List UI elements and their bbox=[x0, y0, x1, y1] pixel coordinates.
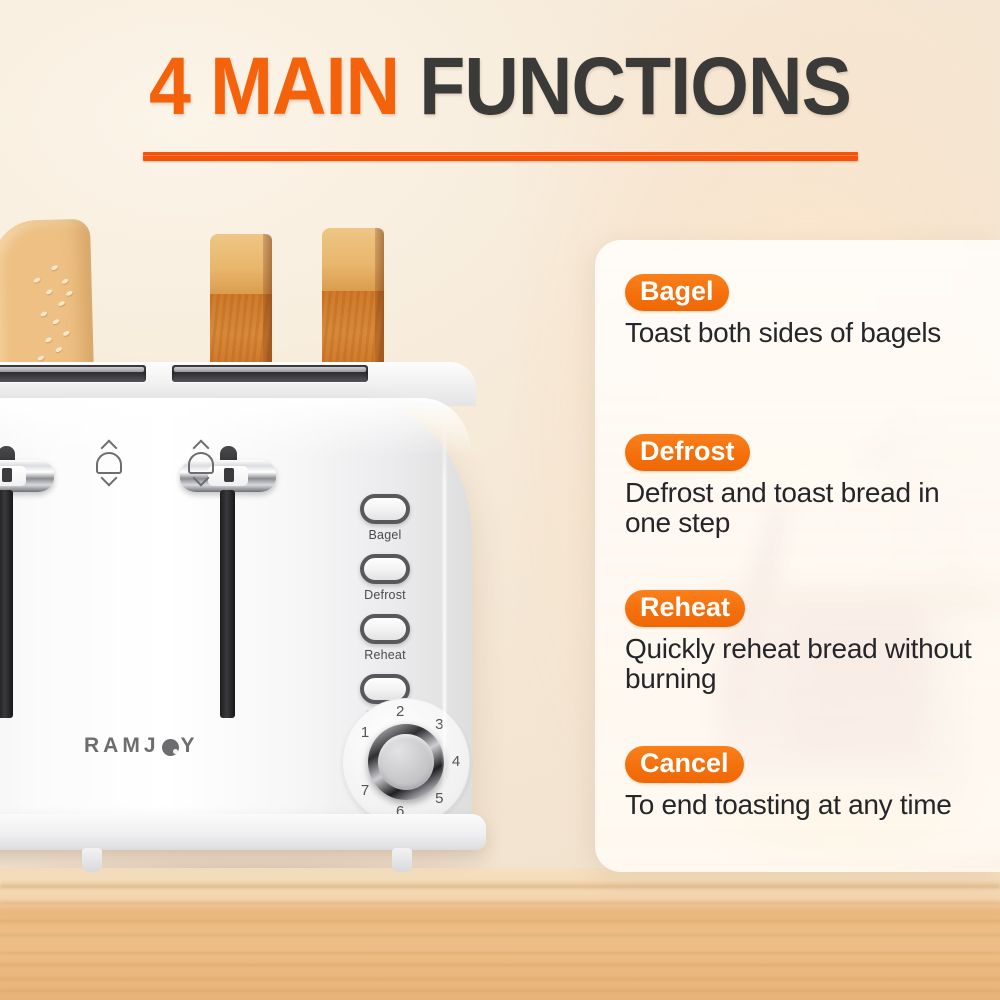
feature-desc-reheat: Quickly reheat bread without burning bbox=[625, 634, 975, 694]
toaster-button-reheat-label: Reheat bbox=[354, 648, 416, 662]
brand-logo: RAMJY bbox=[84, 734, 199, 758]
dial-number-4: 4 bbox=[448, 753, 464, 770]
wood-grain-line bbox=[0, 990, 1000, 992]
toaster-slot-left bbox=[0, 365, 146, 382]
wood-grain-line bbox=[0, 920, 1000, 922]
page-title-highlight: 4 MAIN bbox=[149, 41, 419, 132]
bagel-sesame-seed bbox=[62, 330, 70, 337]
lever-rod-right bbox=[220, 490, 235, 718]
feature-badge-defrost: Defrost bbox=[625, 434, 750, 471]
wood-grain-line bbox=[0, 934, 1000, 936]
lever-rod-left bbox=[0, 490, 13, 718]
lever-pin-right bbox=[224, 468, 234, 482]
feature-badge-reheat: Reheat bbox=[625, 590, 745, 627]
dial-number-3: 3 bbox=[431, 716, 447, 733]
feature-desc-bagel: Toast both sides of bagels bbox=[625, 318, 975, 348]
brand-logo-o-icon bbox=[162, 739, 179, 756]
lever-pin-left bbox=[2, 468, 12, 482]
wood-grain-line bbox=[0, 978, 1000, 980]
toaster-slot-right bbox=[172, 365, 368, 382]
counter-edge-line bbox=[0, 884, 1000, 887]
infographic-stage: 4 MAIN FUNCTIONS bbox=[0, 0, 1000, 1000]
dial-number-2: 2 bbox=[392, 703, 408, 720]
bagel-sesame-seed bbox=[37, 355, 45, 362]
bagel-sesame-seed bbox=[44, 337, 52, 344]
wooden-counter bbox=[0, 868, 1000, 1000]
page-title: 4 MAIN FUNCTIONS bbox=[40, 46, 960, 128]
bagel-sesame-seed bbox=[40, 311, 48, 318]
bagel-sesame-seed bbox=[45, 288, 53, 295]
bagel-sesame-seed bbox=[58, 300, 66, 307]
wood-grain-line bbox=[0, 902, 1000, 904]
toaster-button-bagel[interactable] bbox=[360, 494, 410, 524]
feature-badge-bagel: Bagel bbox=[625, 274, 729, 311]
wood-grain-line bbox=[0, 964, 1000, 966]
feature-badge-cancel: Cancel bbox=[625, 746, 744, 783]
bread-lift-icon-right bbox=[184, 440, 218, 486]
page-title-rest: FUNCTIONS bbox=[419, 41, 851, 132]
toaster-foot-right bbox=[392, 848, 412, 872]
bagel-sesame-seed bbox=[55, 346, 63, 353]
carriage-lever-left[interactable] bbox=[0, 446, 54, 492]
brand-logo-text: RAMJ bbox=[84, 734, 160, 758]
toaster-body: Bagel Defrost Reheat Cancel 1234567 RAM bbox=[0, 362, 584, 872]
toaster-button-reheat[interactable] bbox=[360, 614, 410, 644]
bagel-sesame-seed bbox=[61, 278, 69, 285]
feature-desc-cancel: To end toasting at any time bbox=[625, 790, 975, 820]
bagel-sesame-seed bbox=[33, 277, 41, 284]
brand-logo-text-end: Y bbox=[181, 734, 199, 758]
toaster-base-plinth bbox=[0, 814, 486, 850]
toaster-foot-left bbox=[82, 848, 102, 872]
toaster-cabinet: Bagel Defrost Reheat Cancel 1234567 RAM bbox=[0, 398, 472, 828]
features-panel: Bagel Toast both sides of bagels Defrost… bbox=[595, 240, 1000, 872]
dial-number-7: 7 bbox=[357, 782, 373, 799]
toaster-button-defrost-label: Defrost bbox=[354, 588, 416, 602]
feature-item-bagel: Bagel Toast both sides of bagels bbox=[625, 274, 975, 348]
toaster-product-image: Bagel Defrost Reheat Cancel 1234567 RAM bbox=[0, 200, 584, 880]
dial-number-1: 1 bbox=[357, 724, 373, 741]
feature-item-cancel: Cancel To end toasting at any time bbox=[625, 746, 975, 820]
feature-item-reheat: Reheat Quickly reheat bread without burn… bbox=[625, 590, 975, 694]
bread-lift-icon-left bbox=[92, 440, 126, 486]
bagel-half bbox=[0, 219, 94, 384]
wood-grain-line bbox=[0, 952, 1000, 954]
dial-knob[interactable] bbox=[368, 724, 444, 800]
feature-item-defrost: Defrost Defrost and toast bread in one s… bbox=[625, 434, 975, 538]
toaster-button-defrost[interactable] bbox=[360, 554, 410, 584]
browning-control-dial[interactable]: 1234567 bbox=[342, 698, 470, 826]
dial-number-5: 5 bbox=[431, 790, 447, 807]
title-underline-rule bbox=[143, 152, 858, 161]
bagel-sesame-seed bbox=[65, 290, 73, 297]
feature-desc-defrost: Defrost and toast bread in one step bbox=[625, 478, 975, 538]
toaster-button-bagel-label: Bagel bbox=[354, 528, 416, 542]
bagel-sesame-seed bbox=[51, 264, 59, 271]
bagel-sesame-seed bbox=[52, 318, 60, 325]
